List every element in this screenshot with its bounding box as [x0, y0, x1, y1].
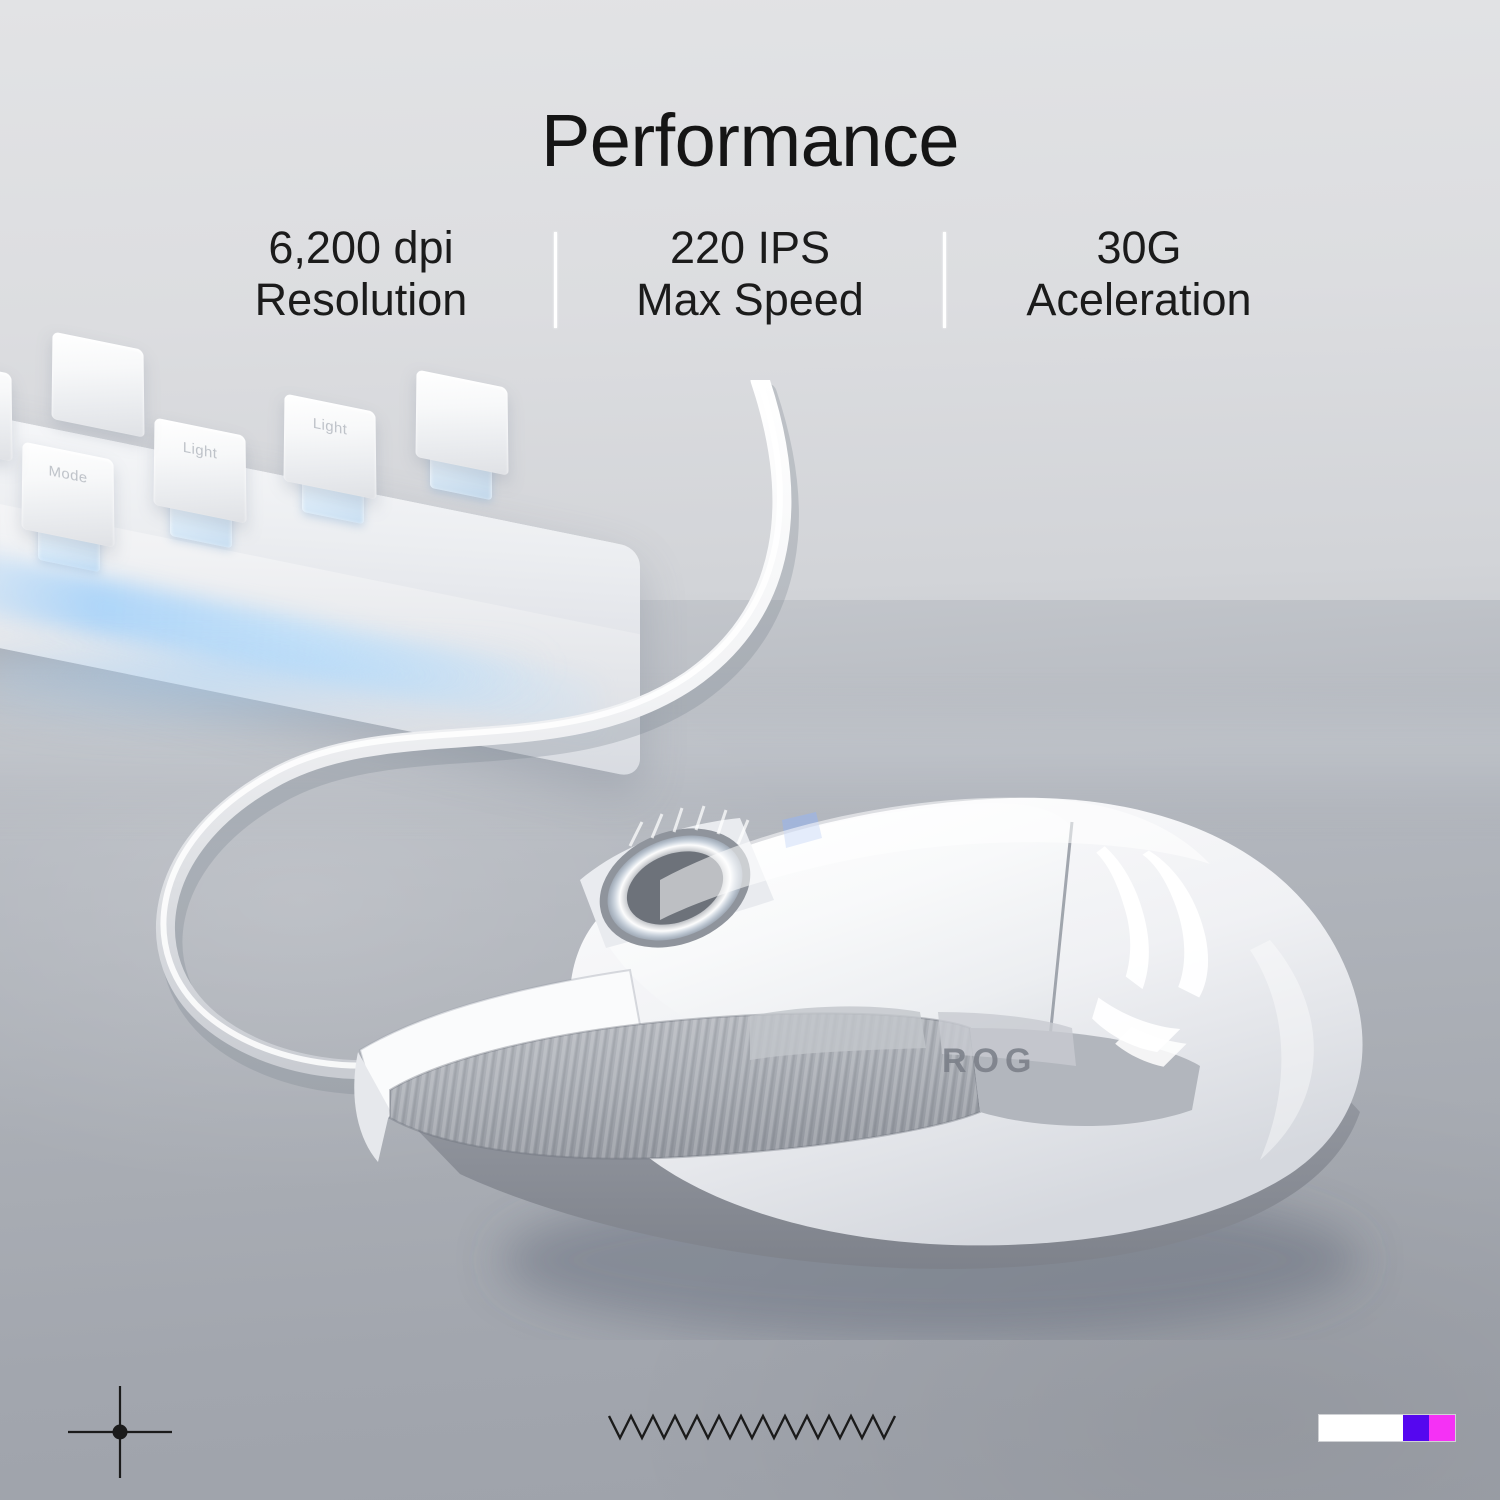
spec-label: Aceleration	[974, 274, 1304, 326]
spec-stat-resolution: 6,200 dpi Resolution	[196, 222, 526, 326]
spec-label: Resolution	[196, 274, 526, 326]
registration-crosshair-icon	[60, 1378, 180, 1488]
spec-divider	[943, 232, 946, 328]
spec-stat-max-speed: 220 IPS Max Speed	[585, 222, 915, 326]
spec-stats-row: 6,200 dpi Resolution 220 IPS Max Speed 3…	[150, 222, 1350, 328]
spec-value: 30G	[974, 222, 1304, 274]
spec-label: Max Speed	[585, 274, 915, 326]
color-swatch-white	[1319, 1415, 1403, 1441]
page-title: Performance	[0, 104, 1500, 178]
spec-divider	[554, 232, 557, 328]
resolution-zigzag-icon	[605, 1398, 905, 1448]
spec-stat-acceleration: 30G Aceleration	[974, 222, 1304, 326]
spec-value: 220 IPS	[585, 222, 915, 274]
rog-grip-wordmark: ROG	[942, 1042, 1037, 1080]
color-swatch-violet	[1403, 1415, 1429, 1441]
color-calibration-bar	[1318, 1414, 1456, 1442]
color-swatch-magenta	[1429, 1415, 1455, 1441]
gaming-mouse: ROG	[330, 760, 1420, 1340]
product-marketing-image: Light Mode Light Light	[0, 0, 1500, 1500]
spec-value: 6,200 dpi	[196, 222, 526, 274]
